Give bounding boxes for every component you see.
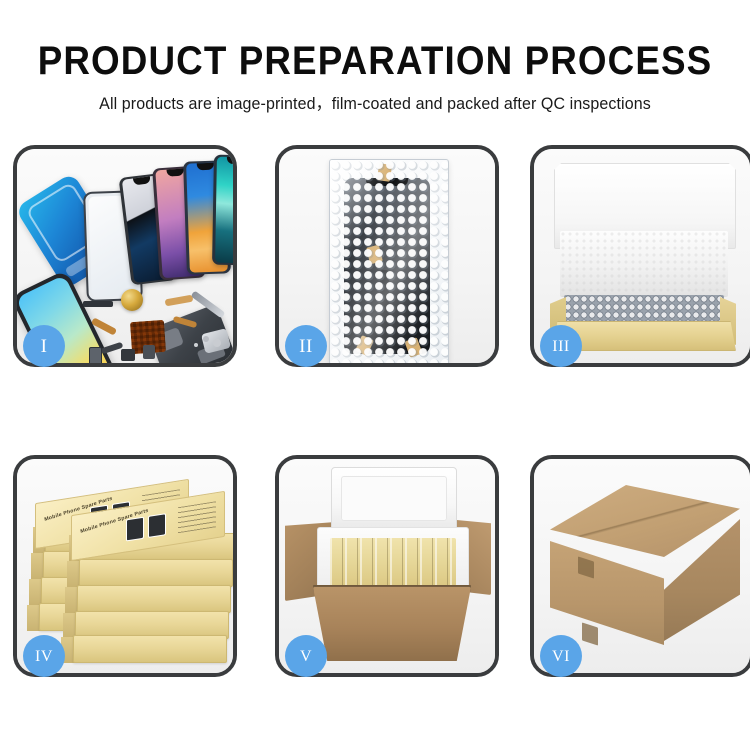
box-spec-lines <box>178 501 216 533</box>
step-numeral: V <box>300 647 312 666</box>
step-panel-6: VI <box>530 455 750 677</box>
stacked-box <box>77 585 231 613</box>
process-step-grid: I II <box>0 145 750 680</box>
carton-tape-patch <box>582 622 598 645</box>
step-numeral: IV <box>35 647 53 666</box>
header: PRODUCT PREPARATION PROCESS All products… <box>0 0 750 114</box>
step-badge-6: VI <box>540 635 582 677</box>
stacked-box <box>73 635 227 663</box>
page-title: PRODUCT PREPARATION PROCESS <box>30 0 720 82</box>
bubble-wrapped-item-icon <box>564 295 724 325</box>
step-numeral: I <box>41 337 48 356</box>
battery-connector-icon <box>83 301 113 307</box>
speaker-coil-icon <box>121 289 143 311</box>
step-panel-2: II <box>275 145 499 367</box>
foam-sheet-icon <box>560 231 728 297</box>
step-panel-1: I <box>13 145 237 367</box>
foam-lid-icon <box>331 467 457 531</box>
step-badge-4: IV <box>23 635 65 677</box>
page-subtitle: All products are image-printed，film-coat… <box>11 82 739 114</box>
step-badge-2: II <box>285 325 327 367</box>
step-panel-4: Mobile Phone Spare Parts <box>13 455 237 677</box>
small-component-icon <box>143 345 155 359</box>
carton-face-left <box>550 541 664 645</box>
step-numeral: VI <box>552 647 570 666</box>
small-component-icon <box>89 347 102 363</box>
step-badge-1: I <box>23 325 65 367</box>
step-panel-5: V <box>275 455 499 677</box>
box-artwork-phone <box>126 517 144 542</box>
step-numeral: II <box>299 337 313 356</box>
product-preparation-infographic: PRODUCT PREPARATION PROCESS All products… <box>0 0 750 750</box>
stacked-box <box>79 559 233 587</box>
step-numeral: III <box>552 337 569 356</box>
plastic-sheen <box>330 160 448 363</box>
flex-cable-icon <box>165 295 194 307</box>
bubble-wrap-bag-icon <box>329 159 449 363</box>
packed-yellow-boxes-icon <box>330 538 456 586</box>
box-stack-icon: Mobile Phone Spare Parts <box>25 475 229 663</box>
small-component-icon <box>121 349 135 361</box>
carton-body-icon <box>313 587 471 661</box>
step-badge-3: III <box>540 325 582 367</box>
flex-cable-icon <box>101 342 124 355</box>
step-panel-3: III <box>530 145 750 367</box>
box-artwork-phone <box>148 513 166 538</box>
phone-display-icon <box>212 155 233 266</box>
screws-icon <box>213 339 221 347</box>
step-badge-5: V <box>285 635 327 677</box>
